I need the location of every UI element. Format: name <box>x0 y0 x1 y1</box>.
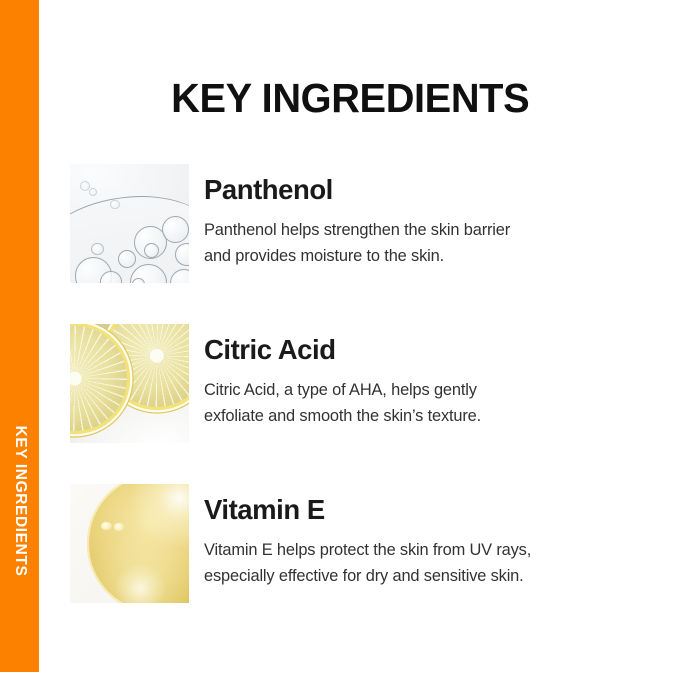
page-title: KEY INGREDIENTS <box>10 74 669 122</box>
ingredient-description: Vitamin E helps protect the skin from UV… <box>204 526 644 589</box>
oil-droplet-icon <box>70 484 189 603</box>
ingredient-item-citric-acid: Citric Acid Citric Acid, a type of AHA, … <box>70 324 670 444</box>
ingredient-text-panthenol: Panthenol Panthenol helps strengthen the… <box>204 164 644 269</box>
ingredient-thumbnail-citric-acid <box>70 324 189 443</box>
side-banner-label: KEY INGREDIENTS <box>11 426 29 577</box>
ingredient-name: Vitamin E <box>204 484 644 526</box>
ingredient-description: Citric Acid, a type of AHA, helps gently… <box>204 366 644 429</box>
ingredient-text-vitamin-e: Vitamin E Vitamin E helps protect the sk… <box>204 484 644 589</box>
ingredient-thumbnail-panthenol <box>70 164 189 283</box>
ingredient-thumbnail-vitamin-e <box>70 484 189 603</box>
ingredient-list: Panthenol Panthenol helps strengthen the… <box>70 164 670 644</box>
gel-bubbles-icon <box>70 164 189 283</box>
ingredient-name: Citric Acid <box>204 324 644 366</box>
ingredient-name: Panthenol <box>204 164 644 206</box>
ingredient-description: Panthenol helps strengthen the skin barr… <box>204 206 644 269</box>
ingredient-text-citric-acid: Citric Acid Citric Acid, a type of AHA, … <box>204 324 644 429</box>
ingredient-item-vitamin-e: Vitamin E Vitamin E helps protect the sk… <box>70 484 670 604</box>
ingredient-item-panthenol: Panthenol Panthenol helps strengthen the… <box>70 164 670 284</box>
lemon-slice-icon <box>70 324 189 443</box>
